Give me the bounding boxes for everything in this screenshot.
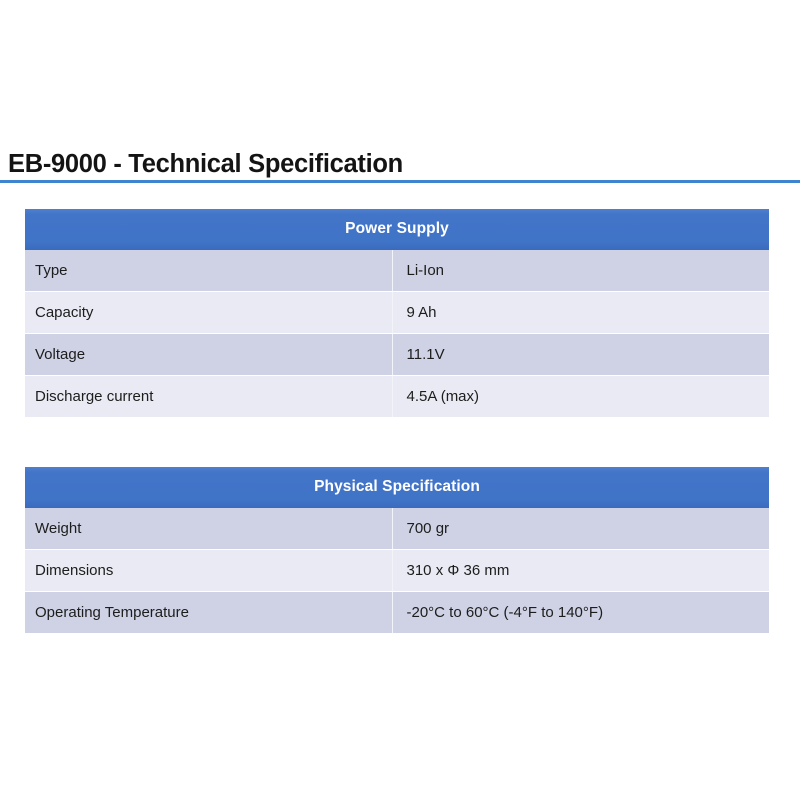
table-row: Discharge current 4.5A (max) <box>25 376 769 418</box>
table-row: Voltage 11.1V <box>25 334 769 376</box>
power-supply-table: Power Supply Type Li-Ion Capacity 9 Ah V… <box>25 209 769 418</box>
title-divider-rule <box>0 180 800 183</box>
spec-label: Discharge current <box>25 376 392 418</box>
table-row: Dimensions 310 x Φ 36 mm <box>25 550 769 592</box>
spec-value: 11.1V <box>392 334 769 376</box>
spec-value: Li-Ion <box>392 250 769 292</box>
table-header-title: Power Supply <box>25 209 769 250</box>
table-header-row: Physical Specification <box>25 467 769 508</box>
spec-value: 700 gr <box>392 508 769 550</box>
spec-label: Dimensions <box>25 550 392 592</box>
spec-label: Operating Temperature <box>25 592 392 634</box>
spec-label: Capacity <box>25 292 392 334</box>
table-header-title: Physical Specification <box>25 467 769 508</box>
physical-specification-table: Physical Specification Weight 700 gr Dim… <box>25 467 769 634</box>
table-row: Weight 700 gr <box>25 508 769 550</box>
table-header-row: Power Supply <box>25 209 769 250</box>
page-title: EB-9000 - Technical Specification <box>8 147 403 181</box>
spec-value: 9 Ah <box>392 292 769 334</box>
spec-label: Type <box>25 250 392 292</box>
spec-value: -20°C to 60°C (-4°F to 140°F) <box>392 592 769 634</box>
table-row: Capacity 9 Ah <box>25 292 769 334</box>
spec-label: Weight <box>25 508 392 550</box>
table-row: Operating Temperature -20°C to 60°C (-4°… <box>25 592 769 634</box>
table-row: Type Li-Ion <box>25 250 769 292</box>
specification-page: EB-9000 - Technical Specification Power … <box>0 0 800 800</box>
spec-value: 310 x Φ 36 mm <box>392 550 769 592</box>
spec-value: 4.5A (max) <box>392 376 769 418</box>
spec-label: Voltage <box>25 334 392 376</box>
